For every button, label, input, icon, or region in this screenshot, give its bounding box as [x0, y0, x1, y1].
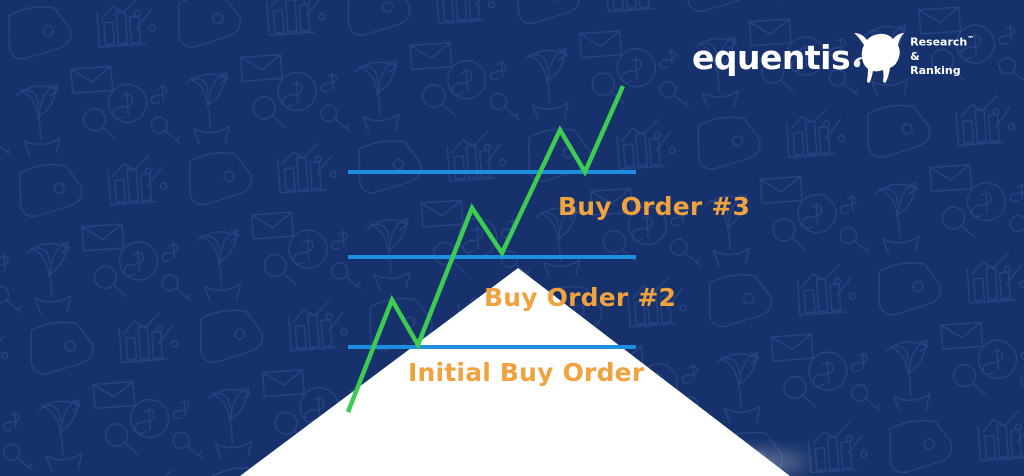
bull-icon — [852, 29, 904, 85]
tagline-ranking: Ranking — [910, 64, 961, 77]
logo-tagline: Research™ & Ranking — [910, 35, 974, 79]
tagline-research: Research — [910, 36, 967, 49]
label-initial-buy-order: Initial Buy Order — [408, 358, 644, 387]
staggered-buying-banner: equentis Research™ & Ranking Buy Order #… — [0, 0, 1024, 476]
logo-wordmark: equentis — [692, 41, 850, 74]
label-buy-order-2: Buy Order #2 — [484, 283, 676, 312]
tagline-ampersand: & — [910, 50, 920, 63]
trademark-mark: ™ — [967, 35, 974, 43]
equentis-logo[interactable]: equentis Research™ & Ranking — [692, 26, 924, 88]
label-buy-order-3: Buy Order #3 — [558, 192, 750, 221]
